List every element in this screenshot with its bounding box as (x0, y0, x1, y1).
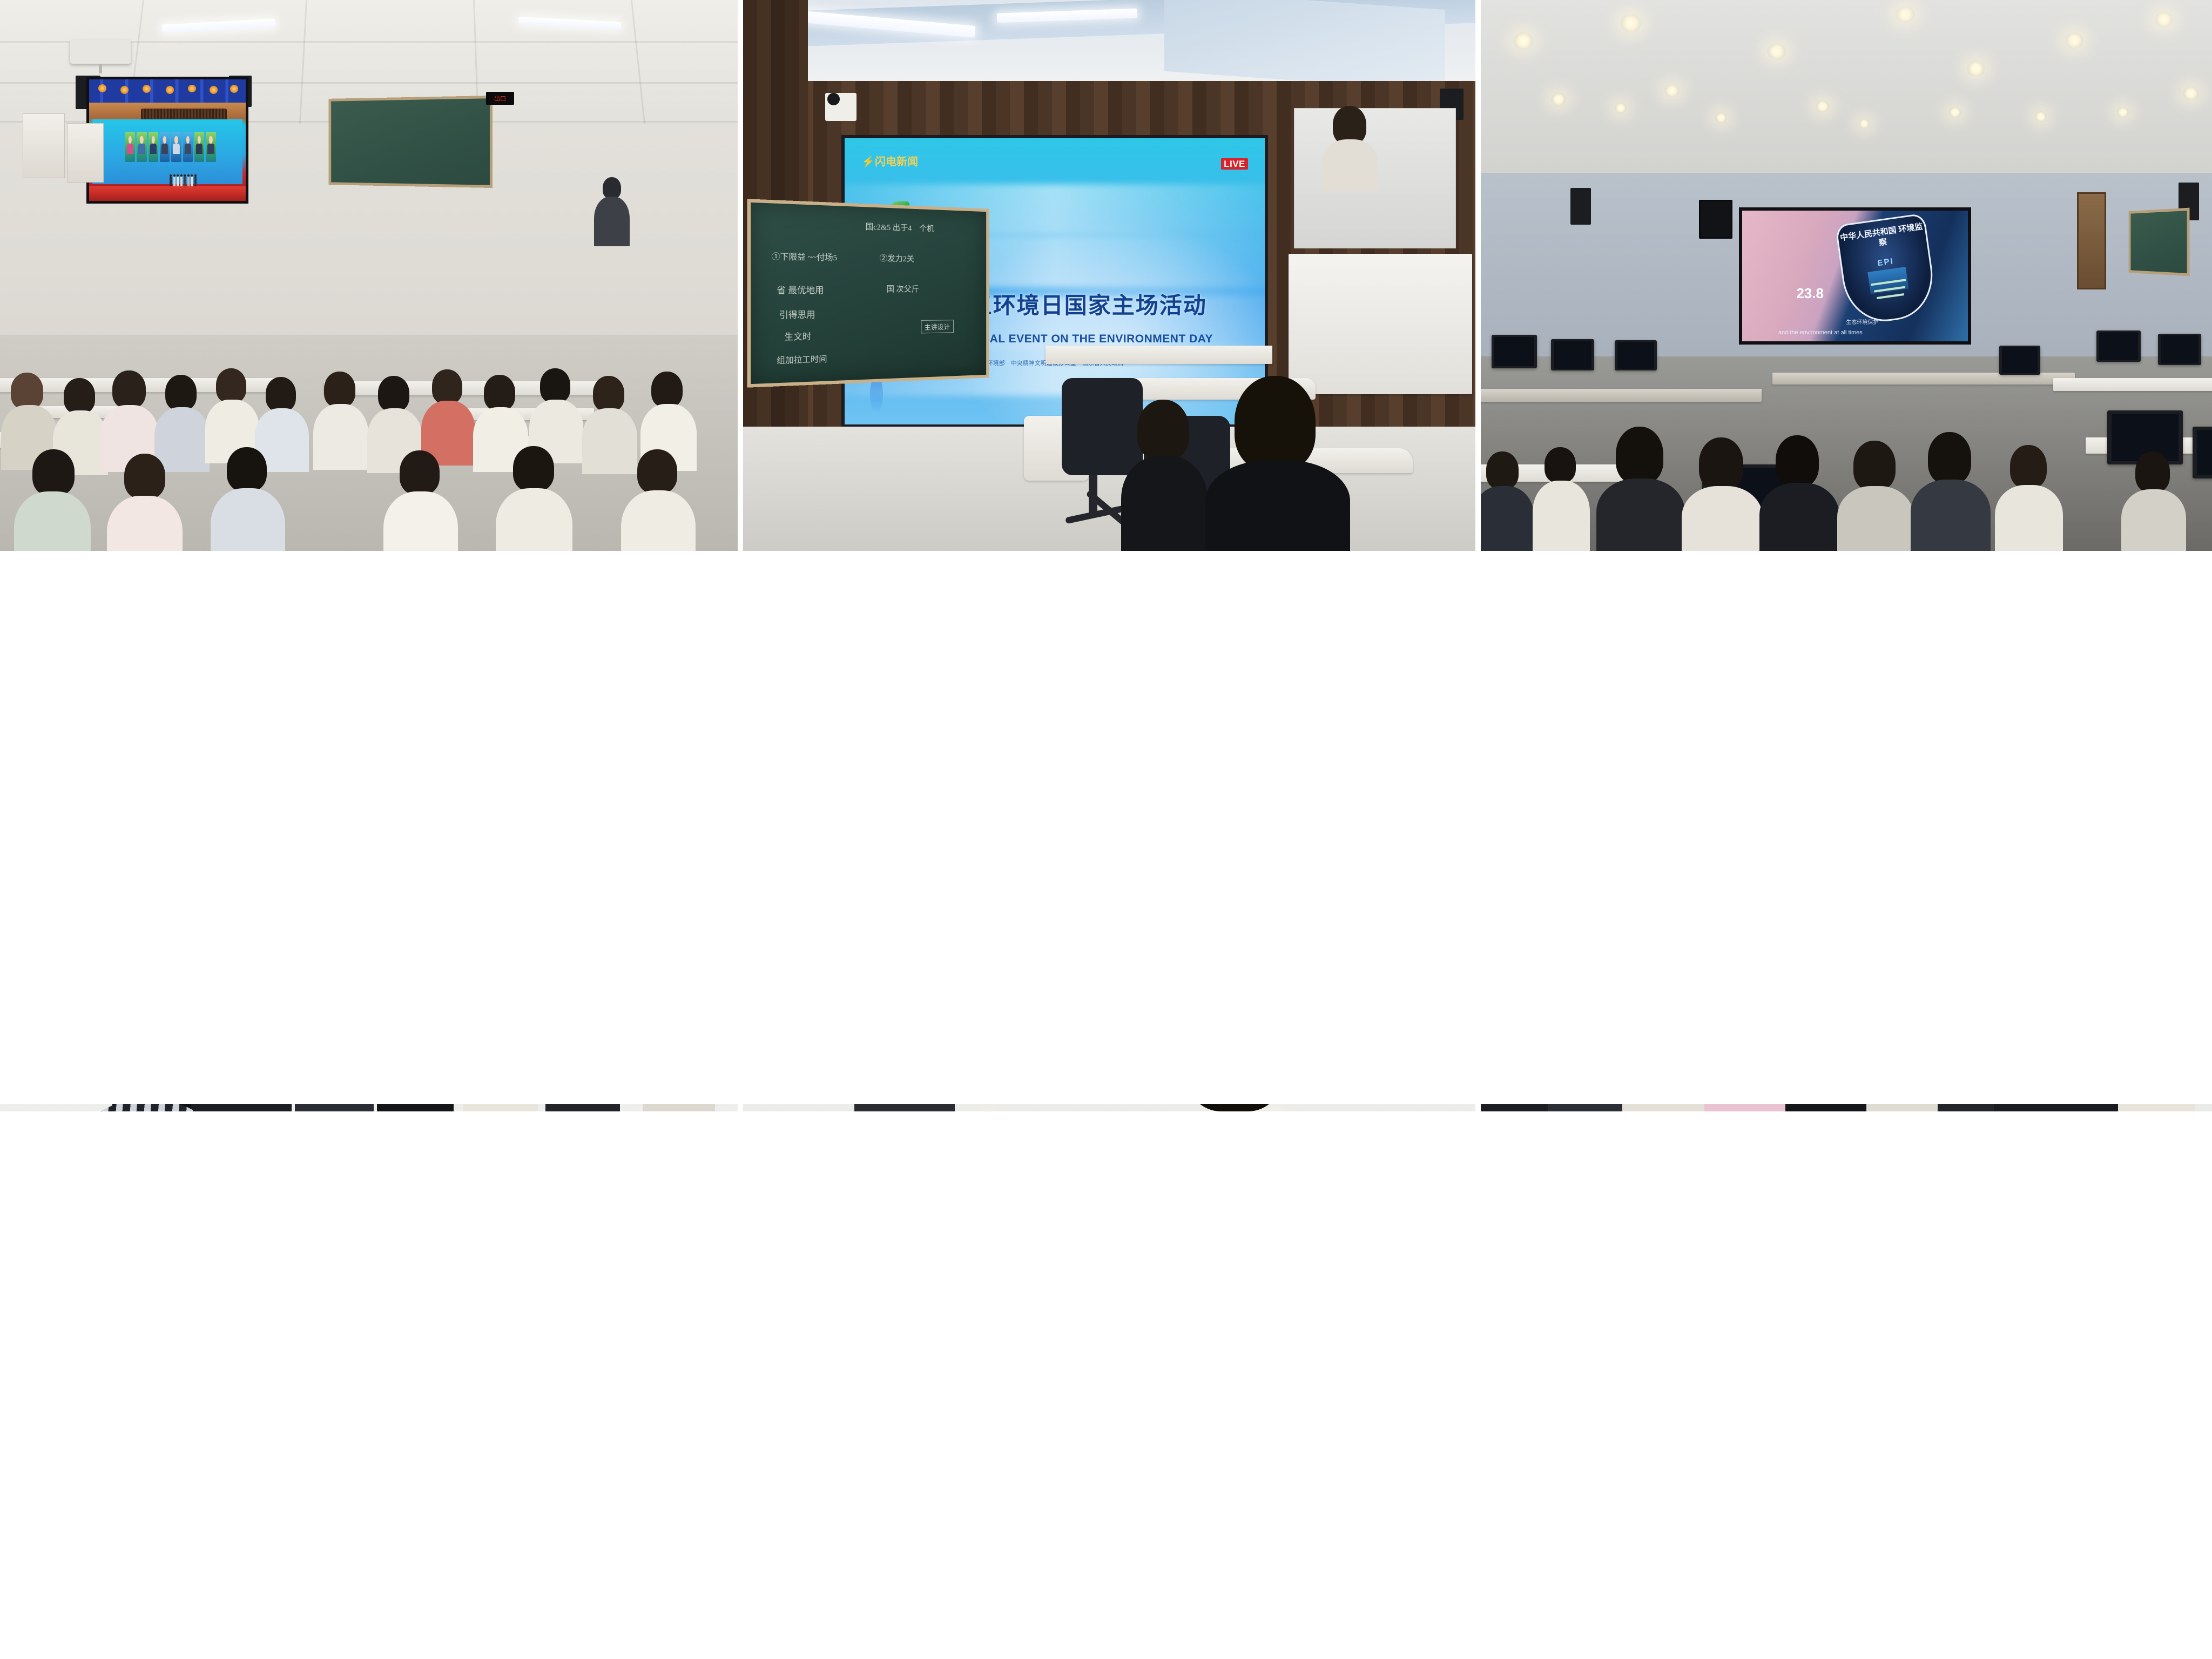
badge-text-cn: 中华人民共和国 环境监察 (1838, 221, 1927, 254)
ceiling-camera (825, 93, 857, 121)
student-audience (743, 313, 1475, 551)
wall-cabinet (67, 123, 104, 183)
photo-collage: 出口 (0, 0, 2212, 1659)
student-audience (1481, 324, 2212, 551)
projection-screen[interactable] (86, 77, 248, 204)
epi-badge: 中华人民共和国 环境监察 EPI (1835, 213, 1939, 326)
exit-sign: 出口 (486, 92, 514, 105)
photo-panel-middle-right[interactable]: 美丽中国·我是行动者 美丽中国·我是行动者 (1481, 1104, 2212, 1111)
photo-panel-middle-center[interactable]: 我们坚持节约优先 Committed to the policy of prio… (743, 1104, 1475, 1111)
channel-logo: ⚡闪电新闻 (861, 153, 918, 168)
photo-panel-top-left[interactable]: 出口 (0, 0, 738, 551)
side-blackboard (2129, 208, 2190, 276)
side-monitor (1699, 200, 1732, 239)
student-audience (0, 248, 738, 551)
photo-panel-top-right[interactable]: 中华人民共和国 环境监察 EPI 23.8 生态环境保护 and the env… (1481, 0, 2212, 551)
classroom-door (2077, 192, 2106, 289)
ceiling-projector (70, 40, 131, 64)
live-badge: LIVE (1221, 158, 1248, 170)
overlay-number: 23.8 (1796, 285, 1824, 302)
student-audience (743, 1104, 1475, 1111)
wall-speaker (1570, 188, 1591, 225)
wall-cabinet (23, 113, 65, 178)
classroom-blackboard (329, 96, 493, 188)
student-audience (1481, 1104, 2212, 1111)
student-audience (0, 1104, 738, 1111)
photo-panel-top-center[interactable]: ⚡闪电新闻 LIVE 2023 六五环境日国家主场活动 NATIONAL EVE… (743, 0, 1475, 551)
photo-panel-middle-left[interactable]: ⚡闪电新闻 LIVE 美丽中国·我是行动者 美丽中国·我是行动者 六五环境日国家… (0, 1104, 738, 1111)
